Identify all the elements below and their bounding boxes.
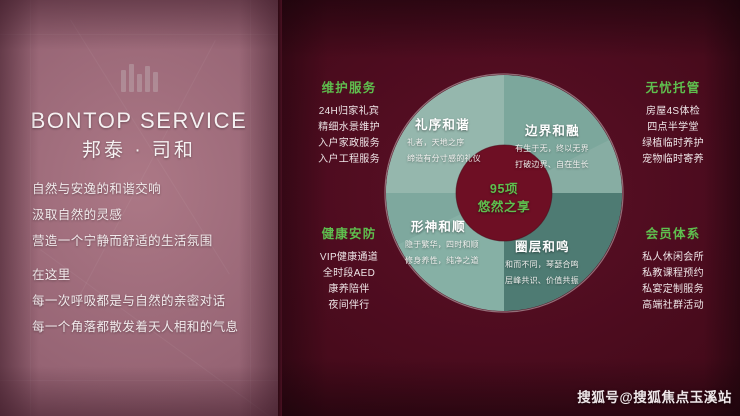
service-item: 私教课程预约 [614,266,732,282]
service-block-title: 会员体系 [614,228,732,241]
brand-copy-list: 自然与安逸的和谐交响 汲取自然的灵感 营造一个宁静而舒适的生活氛围 在这里 每一… [32,176,262,340]
quadrant-sub: 层峰共识、价值共振 [505,274,579,287]
service-item: 宠物临时寄养 [614,152,732,168]
quadrant-sub: 缔造有分寸感的礼仪 [407,152,481,165]
decor-line [30,0,31,416]
quadrant-sub: 隐于繁华，四时和顺 [405,238,479,251]
quadrant-sub: 打破边界、自在生长 [515,158,589,171]
brand-copy-line: 汲取自然的灵感 [32,202,262,228]
wheel-blade-top [504,72,533,124]
quadrant-title-boundary-blending: 边界和融 [525,120,580,139]
service-wheel-diagram: 95项 悠然之享 礼序和谐 礼者，天地之序 缔造有分寸感的礼仪 边界和融 有生于… [383,72,625,314]
quadrant-sub: 有生于无，终以无界 [515,142,589,155]
quadrant-sub: 和而不同，琴瑟合鸣 [505,258,579,271]
bontop-logo-icon [117,62,161,92]
slide-root: BONTOP SERVICE 邦泰 · 司和 自然与安逸的和谐交响 汲取自然的灵… [0,0,740,416]
service-item: 私人休闲会所 [614,250,732,266]
service-block-title: 无忧托管 [614,82,732,95]
service-block-carefree-trusteeship: 无忧托管 房屋4S体检 四点半学堂 绿植临时养护 宠物临时寄养 [614,82,732,168]
service-block-membership-system: 会员体系 私人休闲会所 私教课程预约 私宴定制服务 高端社群活动 [614,228,732,314]
brand-copy-line: 每一次呼吸都是与自然的亲密对话 [32,288,262,314]
hub-count: 95项 [383,178,625,197]
quadrant-sub: 修身养性，纯净之道 [405,254,479,267]
brand-copy-line: 在这里 [32,262,262,288]
watermark: 搜狐号@搜狐焦点玉溪站 [577,386,732,406]
hub-label: 悠然之享 [383,196,625,215]
decor-line [0,380,278,381]
brand-title-cn: 邦泰 · 司和 [0,135,278,162]
service-item: 绿植临时养护 [614,136,732,152]
decor-line [0,34,278,35]
quadrant-title-circle-resonance: 圈层和鸣 [515,236,570,255]
quadrant-title-ritual-harmony: 礼序和谐 [415,114,470,133]
service-item: 私宴定制服务 [614,282,732,298]
brand-copy-line: 每一个角落都散发着天人相和的气息 [32,314,262,340]
service-item: 高端社群活动 [614,298,732,314]
service-item: 房屋4S体检 [614,104,732,120]
left-brand-panel: BONTOP SERVICE 邦泰 · 司和 自然与安逸的和谐交响 汲取自然的灵… [0,0,278,416]
quadrant-title-form-spirit-harmony: 形神和顺 [411,216,466,235]
right-service-panel: 维护服务 24H归家礼宾 精细水景维护 入户家政服务 入户工程服务 健康安防 V… [282,0,740,416]
quadrant-sub: 礼者，天地之序 [407,136,464,149]
service-item: 四点半学堂 [614,120,732,136]
brand-copy-line: 营造一个宁静而舒适的生活氛围 [32,228,262,254]
spacer [32,254,262,262]
brand-title-en: BONTOP SERVICE [0,108,278,134]
brand-copy-line: 自然与安逸的和谐交响 [32,176,262,202]
